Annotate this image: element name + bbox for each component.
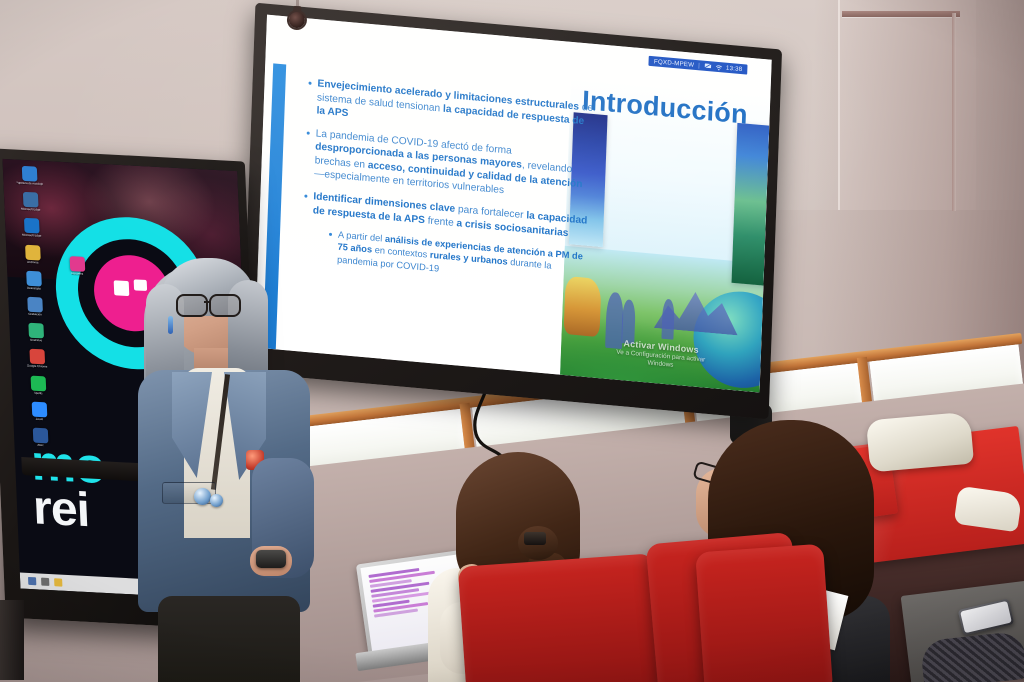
status-clock: 13:38 [726,64,743,72]
desktop-icon-label: OneDrive [30,339,42,343]
desktop-icon-label: Google Chrome [27,365,48,369]
desktop-icon-column-2[interactable]: Recortes [55,255,100,276]
desktop-icon[interactable]: OneDrive [13,322,58,343]
camera-lens [289,12,306,29]
presenter [132,250,322,682]
desktop-icon-glyph [21,166,37,182]
bullet-items: Envejecimiento acelerado y limitaciones … [300,76,596,288]
wifi-icon [715,63,722,71]
display-bezel: Activar Windows Ve a Configuración para … [242,3,782,420]
attendee1-hair-clip [524,532,546,545]
desktop-icon-label: Archivos [27,260,38,264]
status-separator: | [698,62,700,69]
desktop-icon[interactable]: Microsoft Edge [8,191,53,212]
desktop-icon-glyph [25,244,41,260]
display-status-bar: FQXD-MPEW | 13:38 [649,56,748,75]
collage-strip-right [732,123,771,287]
desktop-icon-label: Microsoft Edge [21,208,40,212]
desktop-icon-label: Microsoft Edge [22,234,41,238]
explorer-icon[interactable] [54,578,62,586]
desktop-icon-glyph [69,256,85,272]
collage-silhouette [661,299,674,340]
conference-camera-icon [286,6,309,31]
desktop-icon-label: Grabación [28,313,42,317]
desktop-icon[interactable]: Recortes [55,255,100,276]
jacket-pin-badge [210,494,223,507]
glasses-bridge [204,301,211,303]
desktop-icon[interactable]: Zoom [17,401,62,422]
desktop-icon-glyph [30,375,46,391]
start-icon[interactable] [28,577,36,585]
presenter-lower-body [158,596,300,682]
desktop-icon-label: Zoom [36,417,44,421]
desktop-icon-label: Descargas [27,286,41,290]
desktop-icon-glyph [22,192,38,208]
chair-foreground-left[interactable] [458,553,663,682]
desktop-icon-glyph [23,218,39,234]
glasses-lens-left [176,294,208,317]
glasses-lens-right [209,294,241,317]
bullet-text-run: frente [425,215,457,229]
slide-bullet-list: Envejecimiento acelerado y limitaciones … [300,76,596,297]
desktop-icon[interactable]: Spotify [16,374,61,395]
desktop-icon-glyph [28,323,44,339]
desktop-icon[interactable]: Archivos [10,244,55,265]
collage-silhouette [621,299,636,344]
desktop-icon[interactable]: Word [18,427,63,448]
jacket-pin-badge [194,488,211,505]
desktop-icon-glyph [32,427,48,443]
desktop-icon-glyph [27,297,43,313]
desktop-icon-glyph [31,401,47,417]
touchscreen-post [0,600,24,680]
presentation-clicker[interactable] [256,550,286,568]
desktop-icon-label: Spotify [34,391,43,395]
desktop-icon[interactable]: Microsoft Edge [9,217,54,238]
desktop-icon-label: Word [37,444,44,448]
desktop-icon-label: Recortes [71,272,83,276]
desktop-icon[interactable]: Grabación [12,296,57,317]
device-code: FQXD-MPEW [654,58,694,69]
chair-foreground-right[interactable] [695,544,833,682]
presentation-slide: Activar Windows Ve a Configuración para … [255,15,772,393]
search-icon[interactable] [41,578,49,586]
desktop-icon[interactable]: Descargas [11,270,56,291]
presenter-glasses [176,294,248,314]
desktop-icon[interactable]: Papelera de reciclaje [7,165,52,186]
desktop-icon-label: Papelera de reciclaje [16,181,43,186]
wall-display[interactable]: Activar Windows Ve a Configuración para … [242,3,782,420]
desktop-icon-glyph [26,270,42,286]
display-screen[interactable]: Activar Windows Ve a Configuración para … [255,15,772,393]
desktop-icon[interactable]: Google Chrome [14,348,59,369]
desktop-icon-glyph [29,349,45,365]
display-cast-icon [704,62,711,70]
screenshot-root: Activar Windows Ve a Configuración para … [0,0,1024,682]
wallpaper-headline: mo rei [30,440,107,535]
presenter-earring [168,316,173,334]
